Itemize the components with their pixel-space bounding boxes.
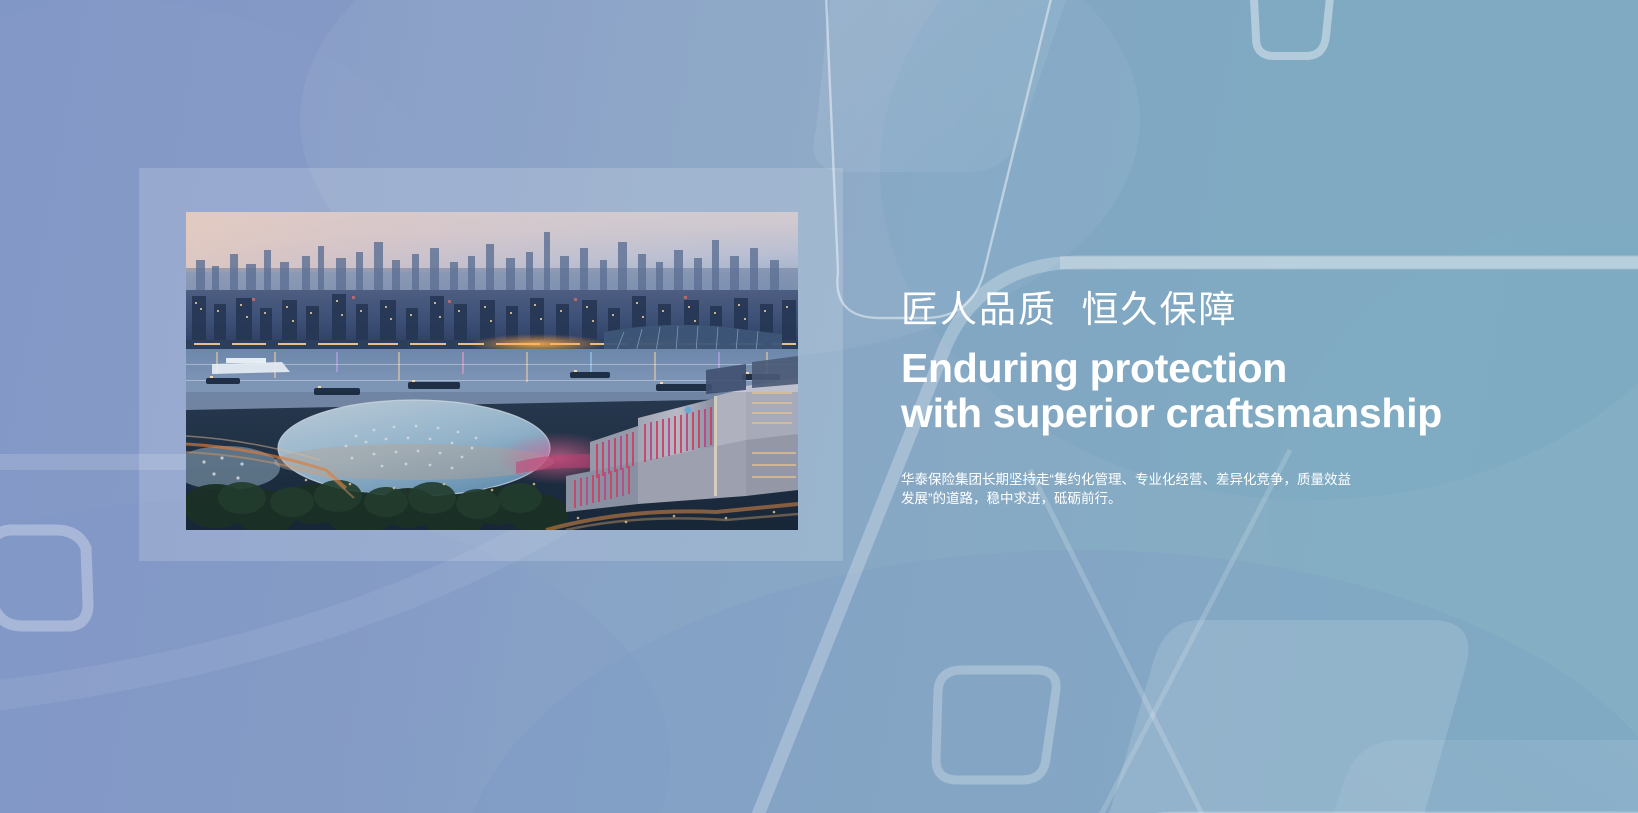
deco-blob-bottom: [460, 550, 1638, 813]
banner-description: 华泰保险集团长期坚持走“集约化管理、专业化经营、差异化竞争，质量效益 发展”的道…: [901, 470, 1379, 508]
banner-stage: 匠人品质 恒久保障 Enduring protection with super…: [0, 0, 1638, 813]
headline-english-line1: Enduring protection: [901, 346, 1541, 391]
deco-hexagon-outline-topright: [1252, 0, 1334, 56]
headline-chinese: 匠人品质 恒久保障: [901, 288, 1541, 332]
banner-photo: [186, 212, 798, 530]
banner-copy: 匠人品质 恒久保障 Enduring protection with super…: [901, 288, 1541, 508]
headline-english: Enduring protection with superior crafts…: [901, 346, 1541, 436]
deco-hexagon-outline-left: [0, 530, 88, 626]
deco-hexagon-outline-bottom: [936, 670, 1056, 780]
deco-diagonal-line-a: [1030, 470, 1300, 813]
description-line2: 发展”的道路，稳中求进，砥砺前行。: [901, 489, 1379, 508]
deco-polygon-topleft: [813, 0, 1094, 172]
deco-polygon-outline-topleft: [819, 0, 1088, 318]
description-line1: 华泰保险集团长期坚持走“集约化管理、专业化经营、差异化竞争，质量效益: [901, 470, 1379, 489]
deco-polygon-bottomright-2: [1082, 620, 1469, 813]
headline-english-line2: with superior craftsmanship: [901, 391, 1541, 436]
deco-polygon-bottomright: [1260, 740, 1638, 813]
